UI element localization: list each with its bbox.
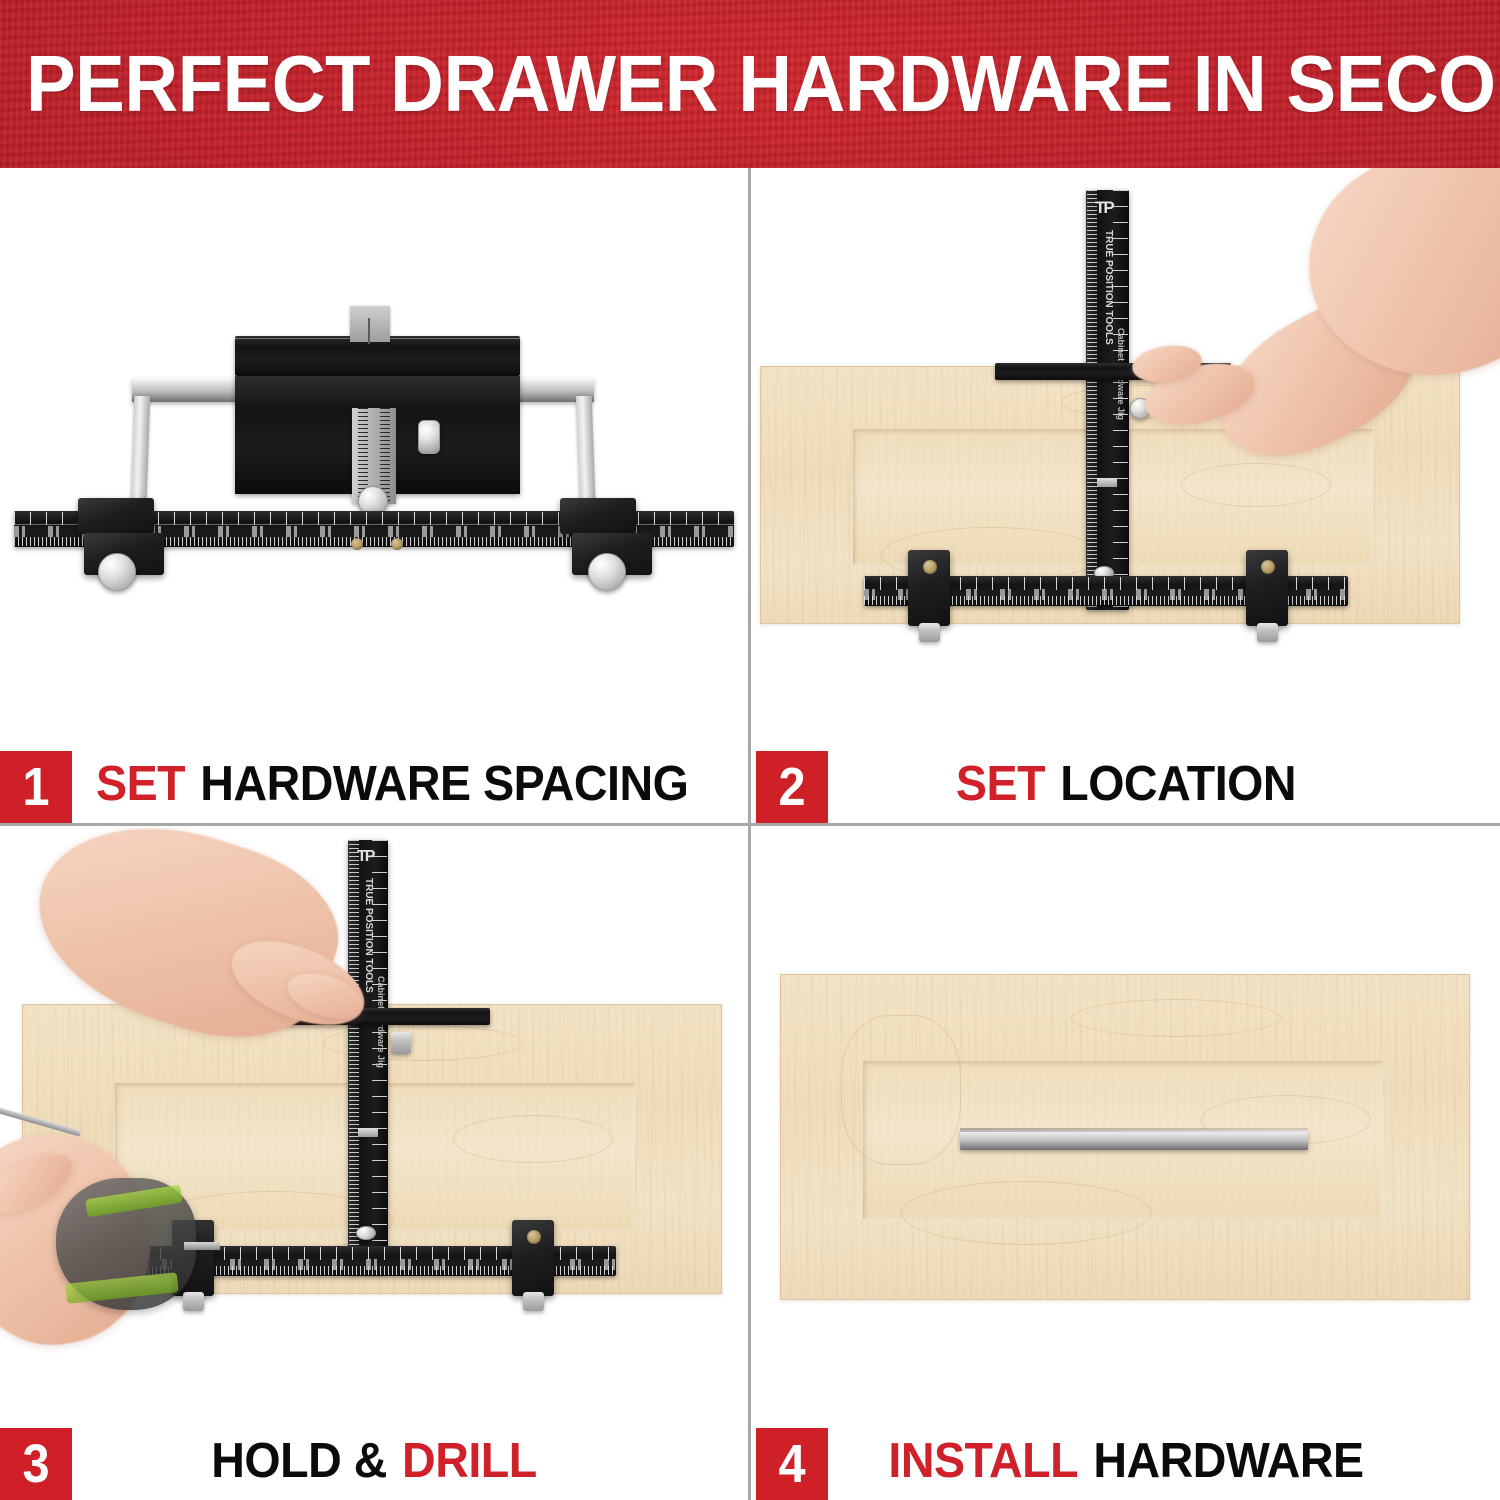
step-4-caption-text: INSTALL HARDWARE (771, 1428, 1482, 1494)
step-1-caption: 1 SET HARDWARE SPACING (0, 746, 748, 823)
center-indicator (358, 1128, 378, 1137)
thumbscrew-right[interactable] (523, 1292, 544, 1311)
step-panel-1: 1 SET HARDWARE SPACING (0, 168, 748, 823)
fence-lock-knob[interactable] (391, 1032, 411, 1054)
step-2-caption: 2 SET LOCATION (752, 746, 1500, 823)
step-3-photo: TP TRUE POSITION TOOLS Cabinet Hardware … (0, 826, 748, 1416)
steps-grid: 1 SET HARDWARE SPACING (0, 168, 1500, 1500)
jig-top-plate (350, 306, 390, 342)
step-4-photo (752, 826, 1500, 1416)
infographic-page: PERFECT DRAWER HARDWARE IN SECONDS (0, 0, 1500, 1500)
header-banner: PERFECT DRAWER HARDWARE IN SECONDS (0, 0, 1500, 168)
bar-pull-shadow (960, 1128, 1308, 1132)
thumbscrew-left[interactable] (919, 623, 940, 642)
tp-logo-vertical: TP (357, 848, 373, 866)
arm-base-nub (356, 1226, 376, 1240)
wood-grain-1 (1071, 999, 1281, 1037)
installed-bar-pull (960, 1130, 1308, 1150)
step-panel-4: 4 INSTALL HARDWARE (752, 826, 1500, 1500)
step-1-word-black: HARDWARE SPACING (200, 756, 688, 812)
banner-title: PERFECT DRAWER HARDWARE IN SECONDS (26, 44, 1500, 124)
step-4-word-black: HARDWARE (1093, 1433, 1363, 1489)
wood-grain-3 (901, 1181, 1151, 1245)
step-panel-3: TP TRUE POSITION TOOLS Cabinet Hardware … (0, 826, 748, 1500)
brand-name-vertical: TRUE POSITION TOOLS (363, 878, 374, 993)
step-2-word-black: LOCATION (1060, 756, 1296, 812)
thumbscrew-right[interactable] (1257, 623, 1278, 642)
step-3-caption: 3 HOLD & DRILL (0, 1416, 748, 1500)
clamp-knob-right[interactable] (588, 553, 626, 591)
step-3-word-red: DRILL (402, 1433, 537, 1489)
wood-grain-2 (453, 1115, 613, 1163)
step-2-photo: TP TRUE POSITION TOOLS Cabinet Hardware … (752, 168, 1500, 746)
step-4-caption: 4 INSTALL HARDWARE (752, 1416, 1500, 1500)
step-1-number: 1 (22, 760, 49, 814)
step-1-caption-text: SET HARDWARE SPACING (96, 751, 688, 817)
step-2-word-red: SET (956, 756, 1045, 812)
center-indicator (1097, 478, 1117, 487)
drill-bushing-left (923, 560, 937, 574)
jig-top-rail (235, 336, 520, 376)
step-4-word-red: INSTALL (888, 1433, 1078, 1489)
drill-bit (184, 1242, 220, 1250)
drill-bushing-right (527, 1230, 541, 1244)
horizontal-divider (0, 823, 1500, 826)
step-3-word-black: HOLD & (211, 1433, 387, 1489)
center-screw-right (391, 538, 403, 550)
wood-grain-2 (1181, 463, 1331, 507)
clamp-knob-left[interactable] (98, 553, 136, 591)
tp-logo-vertical: TP (1095, 198, 1113, 218)
drill-bushing-right (1261, 560, 1275, 574)
jig-top-plate-slot (368, 318, 370, 344)
step-1-word-red: SET (96, 756, 185, 812)
brand-name-vertical: TRUE POSITION TOOLS (1103, 230, 1114, 345)
clamp-block-right-upper[interactable] (560, 498, 636, 534)
vertical-divider (748, 168, 751, 1500)
clamp-block-left-upper[interactable] (78, 498, 154, 534)
step-1-photo (0, 168, 748, 746)
lock-lever[interactable] (418, 420, 440, 454)
step-2-caption-text: SET LOCATION (771, 751, 1482, 817)
step-panel-2: TP TRUE POSITION TOOLS Cabinet Hardware … (752, 168, 1500, 823)
step-3-caption-text: HOLD & DRILL (19, 1428, 730, 1494)
thumbscrew-left[interactable] (183, 1292, 204, 1311)
wood-grain-4 (841, 1015, 961, 1165)
center-screw-left (351, 538, 363, 550)
step-1-number-box: 1 (0, 751, 72, 823)
